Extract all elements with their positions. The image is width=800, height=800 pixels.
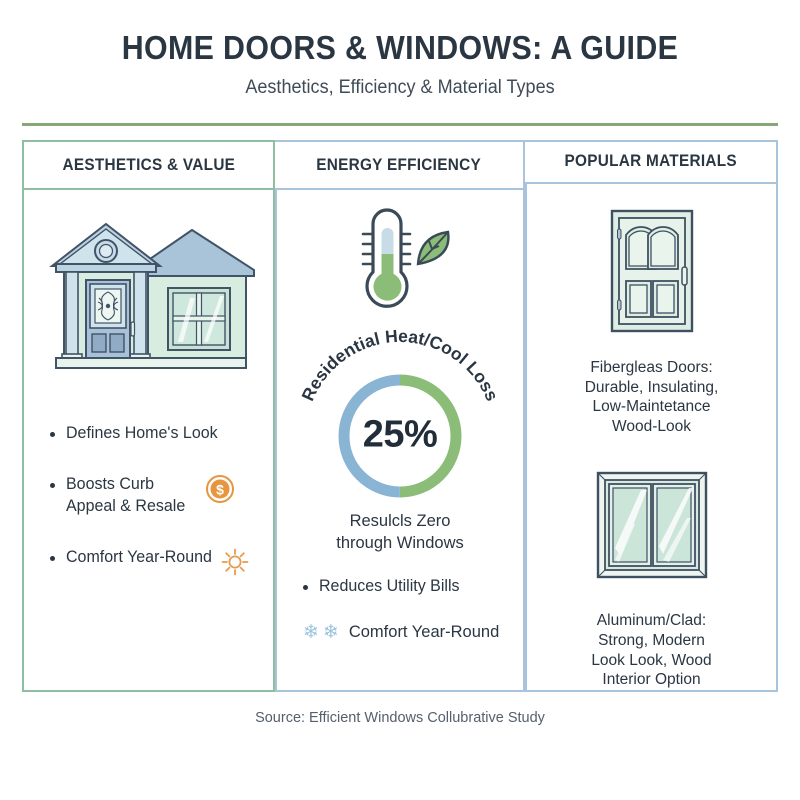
list-item-label: Defines Home's Look [66,423,218,444]
header: HOME DOORS & WINDOWS: A GUIDE Aesthetics… [0,0,800,99]
material-block-window: Aluminum/Clad: Strong, Modern Look Look,… [527,437,776,690]
bullet-dot-icon [303,585,308,590]
column-energy-efficiency: ENERGY EFFICIENCY [275,140,525,692]
list-item-label: Comfort Year-Round [349,623,499,642]
source-footer: Source: Efficient Windows Collubrative S… [0,692,800,726]
page-subtitle: Aesthetics, Efficiency & Material Types [20,77,780,99]
list-item: Defines Home's Look [50,423,273,444]
column-header-label: POPULAR MATERIALS [564,152,736,171]
donut-arc-label: Residential Heat/Cool Loss [298,326,503,404]
bullet-dot-icon [50,432,55,437]
door-illustration-wrap [527,184,776,344]
sun-icon [220,547,250,583]
column-header-label: ENERGY EFFICIENCY [317,156,482,175]
list-item: Comfort Year-Round [50,547,273,583]
four-panel-door-icon [606,207,698,335]
energy-bullet-list: Reduces Utility Bills ❄ ❄ Comfort Year-R… [277,554,523,642]
svg-text:$: $ [216,482,224,498]
snowflake-icon: ❄ [303,623,319,642]
list-item-label: Reduces Utility Bills [319,576,460,597]
column-popular-materials: POPULAR MATERIALS [525,140,778,692]
bullet-dot-icon [50,483,55,488]
bullet-dot-icon [50,556,55,561]
material-window-caption: Aluminum/Clad: Strong, Modern Look Look,… [527,595,776,690]
coin-dollar-icon: $ [205,474,235,510]
infographic-page: HOME DOORS & WINDOWS: A GUIDE Aesthetics… [0,0,800,800]
house-illustration-wrap [24,190,273,409]
aesthetics-bullet-list: Defines Home's Look Boosts Curb Appeal &… [24,409,273,582]
donut-chart: Residential Heat/Cool Loss 25% [277,326,523,511]
thermometer-illustration-wrap [277,190,523,326]
snowflake-icon: ❄ [323,623,339,642]
double-casement-window-icon [593,468,711,582]
column-header-materials: POPULAR MATERIALS [525,140,778,183]
column-header-energy: ENERGY EFFICIENCY [275,140,525,190]
house-with-front-door-icon [42,214,256,389]
column-header-label: AESTHETICS & VALUE [62,156,235,175]
column-body-materials: Fibergleas Doors: Durable, Insulating, L… [525,184,778,693]
list-item-label: Boosts Curb Appeal & Resale [66,474,185,516]
list-item: ❄ ❄ Comfort Year-Round [303,623,523,642]
donut-caption: Resulcls Zero through Windows [277,511,523,554]
column-body-energy: Residential Heat/Cool Loss 25% Resulcls … [275,190,525,692]
list-item-label: Comfort Year-Round [66,547,212,568]
thermometer-leaf-icon [340,202,460,320]
page-title: HOME DOORS & WINDOWS: A GUIDE [32,30,768,66]
material-door-caption: Fibergleas Doors: Durable, Insulating, L… [527,344,776,437]
column-aesthetics: AESTHETICS & VALUE [22,140,275,692]
list-item: Reduces Utility Bills [303,576,523,597]
material-block-door: Fibergleas Doors: Durable, Insulating, L… [527,184,776,437]
header-divider [22,123,778,126]
window-illustration-wrap [527,437,776,595]
donut-center-value: 25% [363,414,438,457]
column-header-aesthetics: AESTHETICS & VALUE [22,140,275,190]
list-item: Boosts Curb Appeal & Resale $ [50,474,273,516]
column-body-aesthetics: Defines Home's Look Boosts Curb Appeal &… [22,190,275,692]
columns-container: AESTHETICS & VALUE [22,140,778,692]
